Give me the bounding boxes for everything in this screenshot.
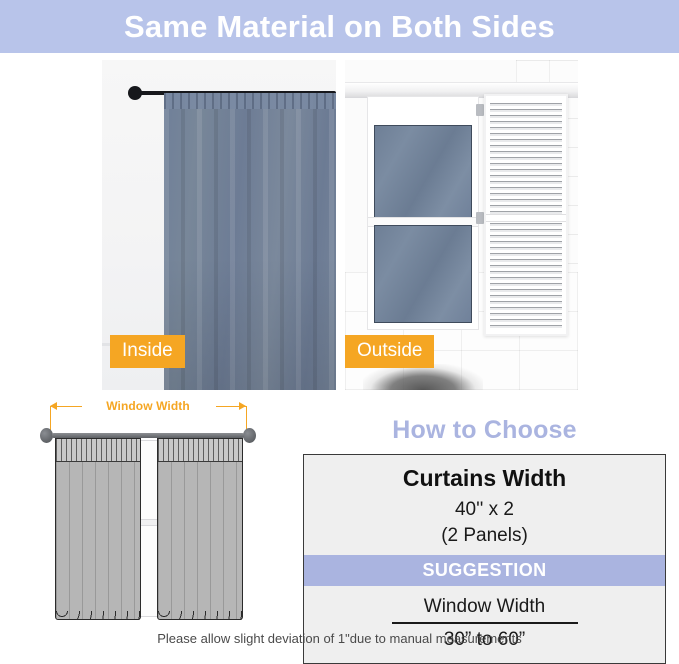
- window-width-label: Window Width: [22, 400, 274, 412]
- window-width-diagram: Window Width: [22, 400, 274, 632]
- spec-panels: (2 Panels): [304, 523, 665, 549]
- how-to-choose-title: How to Choose: [290, 418, 679, 454]
- shutter-divider: [486, 214, 566, 222]
- photo-outside: Outside: [345, 60, 578, 390]
- header-banner: Same Material on Both Sides: [0, 0, 679, 53]
- window-frame: [367, 96, 479, 330]
- shutter-hinge-icon: [476, 104, 484, 116]
- fraction-numerator: Window Width: [392, 595, 578, 624]
- diagram-curtain-panel-left: [55, 438, 141, 620]
- photo-comparison-row: Inside Outside: [0, 53, 679, 390]
- diagram-curtain-panel-right: [157, 438, 243, 620]
- rod-finial-icon: [128, 86, 142, 100]
- window-pane-bottom: [374, 225, 472, 323]
- window-shutter: [484, 94, 568, 336]
- spec-size: 40'' x 2: [304, 497, 665, 523]
- photo-inside: Inside: [102, 60, 336, 390]
- suggestion-band: SUGGESTION: [304, 555, 665, 586]
- shutter-hinge-icon: [476, 212, 484, 224]
- diagram-finial-right-icon: [243, 428, 256, 443]
- window-pane-top: [374, 125, 472, 219]
- inside-tag: Inside: [110, 335, 185, 368]
- disclaimer-note: Please allow slight deviation of 1"due t…: [0, 632, 679, 645]
- outside-tag: Outside: [345, 335, 434, 368]
- spec-heading: Curtains Width: [304, 464, 665, 497]
- page-title: Same Material on Both Sides: [124, 11, 555, 42]
- curtain-panel-inside: [164, 93, 336, 390]
- how-to-choose-section: How to Choose Curtains Width 40'' x 2 (2…: [290, 418, 679, 664]
